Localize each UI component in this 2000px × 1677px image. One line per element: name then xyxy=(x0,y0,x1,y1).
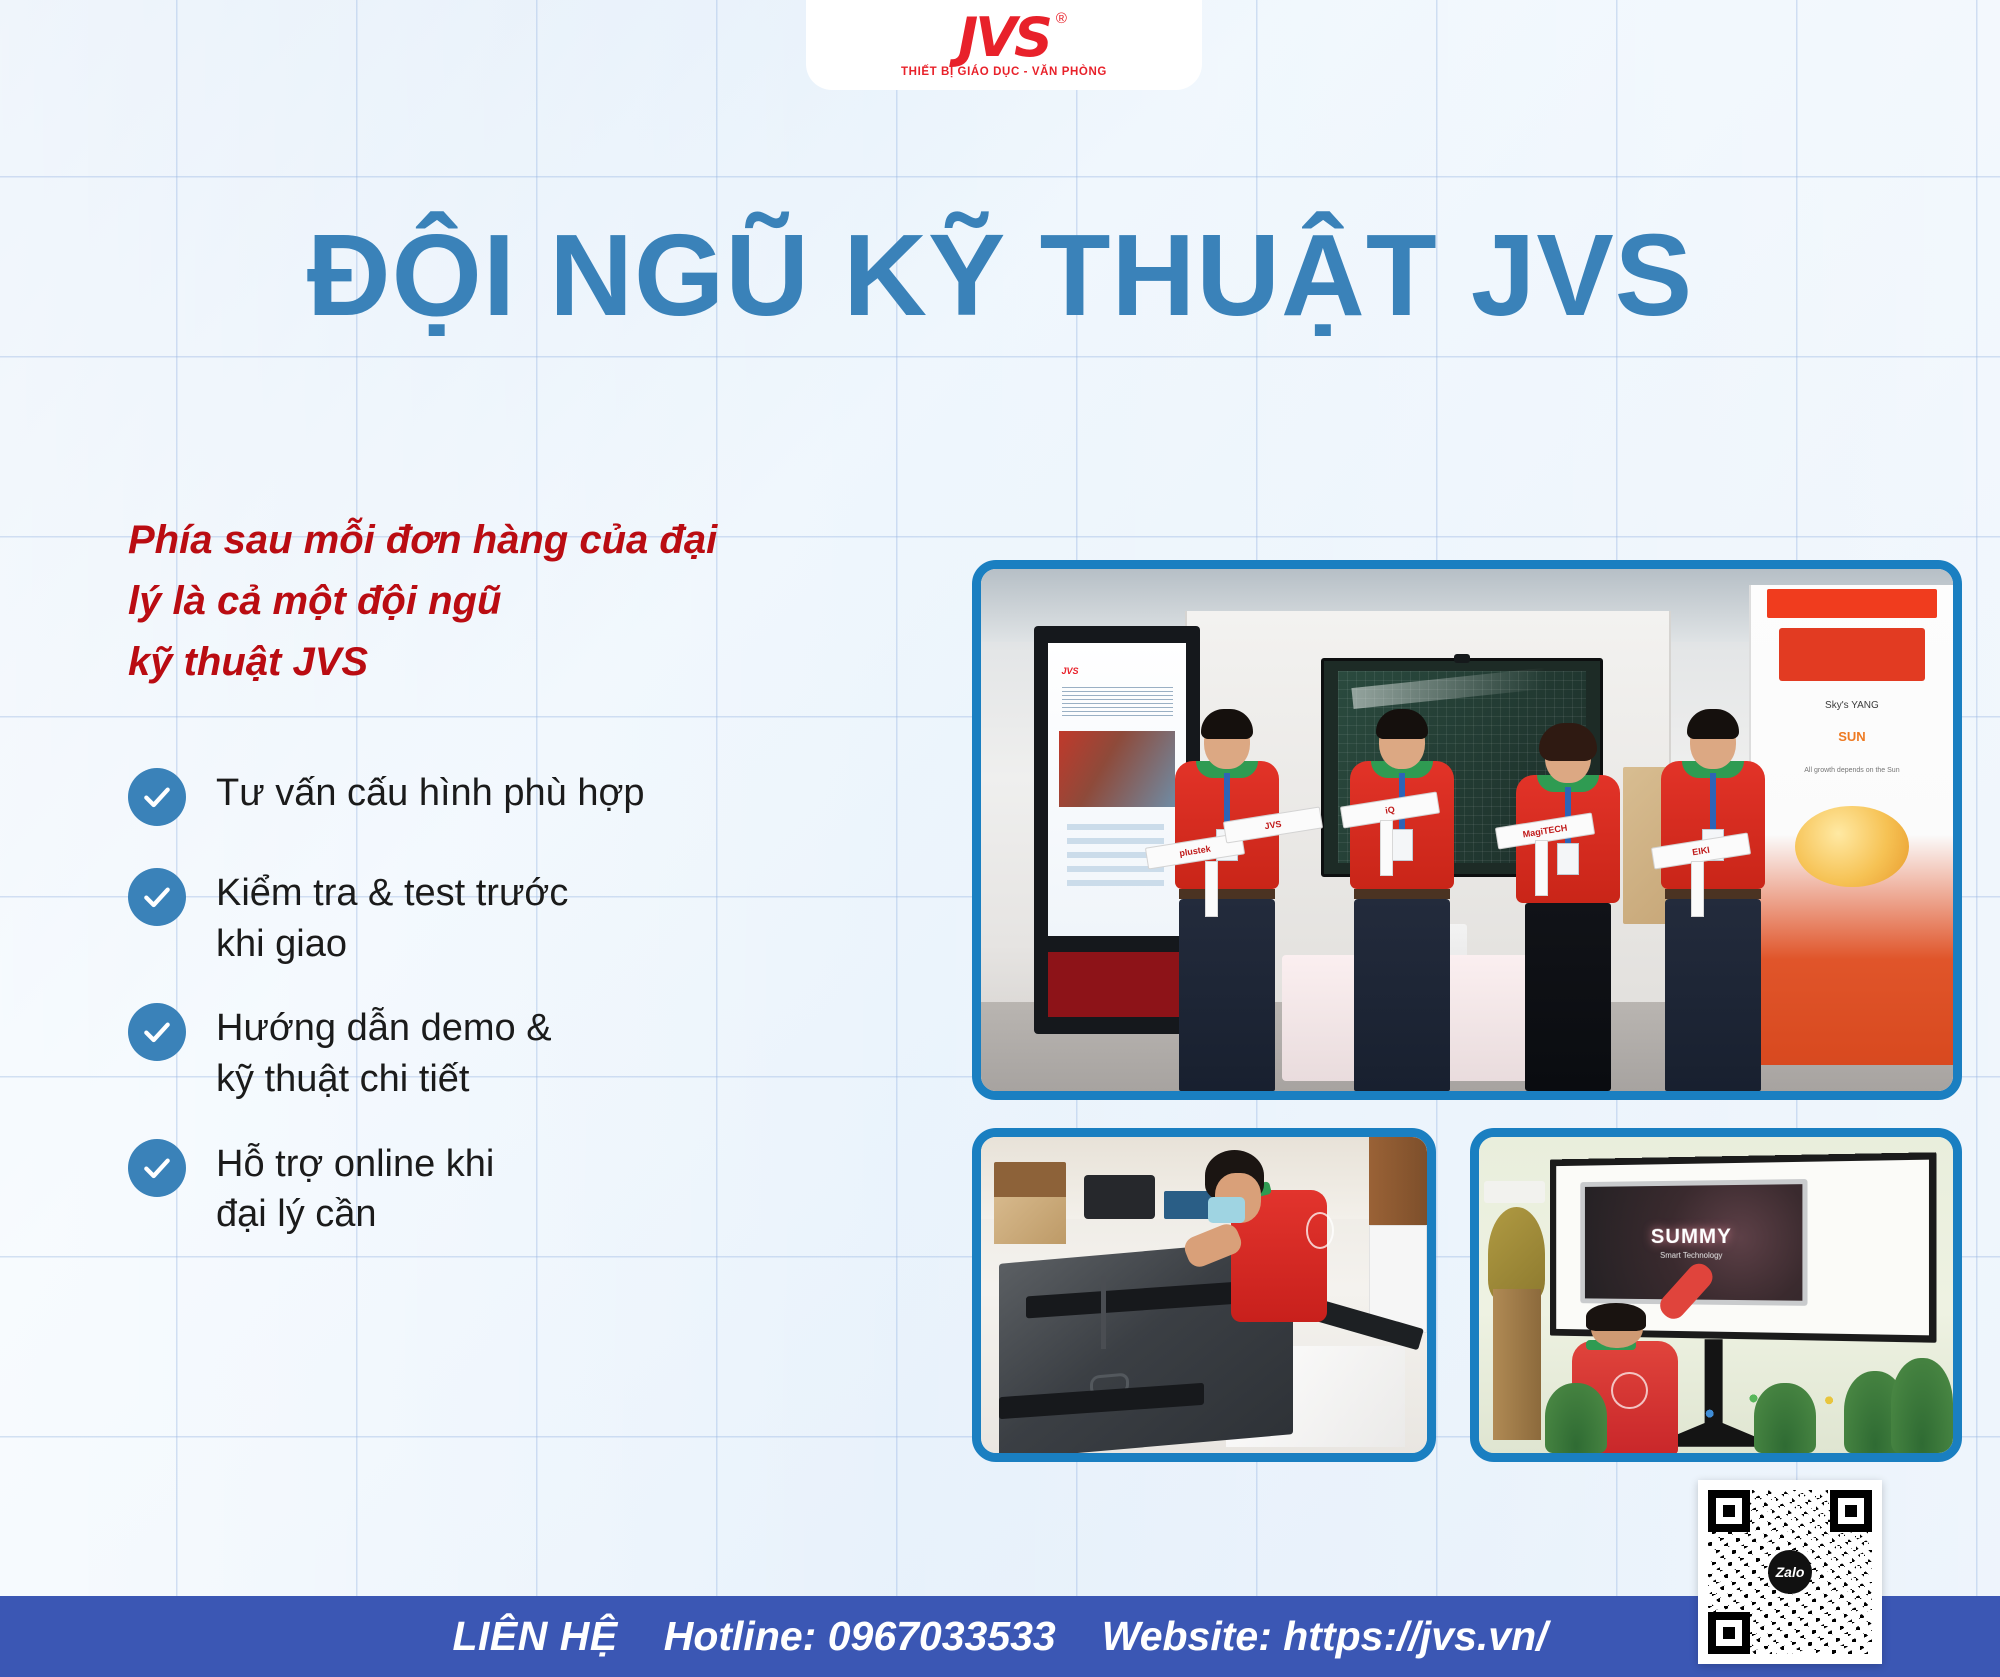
list-item-text: Tư vấn cấu hình phù hợp xyxy=(216,764,645,819)
jvs-logo-text: JVS xyxy=(958,6,1050,69)
qr-finder-top-right xyxy=(1830,1490,1872,1532)
list-item-text: Hỗ trợ online khi đại lý cần xyxy=(216,1135,494,1240)
staff-head xyxy=(1379,715,1425,769)
banner-line-1: Sky's YANG xyxy=(1767,700,1937,711)
kiosk-footer-band xyxy=(1048,952,1187,1017)
brand-sign-handle xyxy=(1535,840,1548,896)
photo-demo: SUMMY Smart Technology xyxy=(1470,1128,1962,1462)
poster-root: JVS ® THIẾT BỊ GIÁO DỤC - VĂN PHÒNG ĐỘI … xyxy=(0,0,2000,1677)
staff-member xyxy=(1661,715,1765,1091)
list-item-text: Kiểm tra & test trước khi giao xyxy=(216,864,568,969)
staff-polo-shirt xyxy=(1350,761,1454,889)
staff-lanyard xyxy=(1710,773,1716,831)
list-item: Kiểm tra & test trước khi giao xyxy=(128,864,918,969)
staff-member xyxy=(1516,729,1620,1091)
summy-brand-text: SUMMY xyxy=(1651,1225,1732,1249)
lead-paragraph: Phía sau mỗi đơn hàng của đại lý là cả m… xyxy=(128,510,918,692)
banner-top-strip xyxy=(1767,589,1937,618)
check-circle-icon xyxy=(128,1139,186,1197)
photo-demo-scene: SUMMY Smart Technology xyxy=(1479,1137,1953,1453)
staff-head xyxy=(1545,729,1591,783)
statue-pedestal xyxy=(1493,1289,1540,1441)
staff-member xyxy=(1350,715,1454,1091)
check-circle-icon xyxy=(128,768,186,826)
brand-sign-handle xyxy=(1691,861,1704,917)
screwdriver-icon xyxy=(1101,1276,1106,1349)
list-item-line-2: khi giao xyxy=(216,919,568,970)
staff-head xyxy=(1204,715,1250,769)
zalo-qr-code[interactable]: Zalo xyxy=(1698,1480,1882,1664)
staff-hair xyxy=(1539,723,1597,761)
banner-badge xyxy=(1779,628,1925,681)
photo-team-booth-scene: JVS Sky's YANG SUN All growth depends on… xyxy=(981,569,1953,1091)
staff-belt xyxy=(1354,889,1450,899)
list-item-line-2: kỹ thuật chi tiết xyxy=(216,1054,552,1105)
sun-graphic-icon xyxy=(1795,806,1908,888)
jvs-logo-plate: JVS ® THIẾT BỊ GIÁO DỤC - VĂN PHÒNG xyxy=(806,0,1202,90)
kiosk-jvs-logo: JVS xyxy=(1062,666,1079,676)
zalo-logo-icon: Zalo xyxy=(1768,1550,1812,1594)
potted-plant xyxy=(1754,1383,1816,1453)
staff-skirt xyxy=(1525,903,1611,1091)
photo-assembly xyxy=(972,1128,1436,1462)
check-circle-icon xyxy=(128,868,186,926)
staff-trousers xyxy=(1179,899,1275,1091)
staff-polo-shirt xyxy=(1661,761,1765,889)
contact-label: LIÊN HỆ xyxy=(452,1613,617,1660)
staff-id-badge xyxy=(1391,829,1413,861)
list-item: Hỗ trợ online khi đại lý cần xyxy=(128,1135,918,1240)
lead-line-3: kỹ thuật JVS xyxy=(128,632,918,693)
potted-plant xyxy=(1891,1358,1953,1453)
page-title: ĐỘI NGŨ KỸ THUẬT JVS xyxy=(0,208,2000,342)
list-item-text: Hướng dẫn demo & kỹ thuật chi tiết xyxy=(216,999,552,1104)
exhibitor-banner: Sky's YANG SUN All growth depends on the… xyxy=(1749,585,1953,1065)
photo-team-booth: JVS Sky's YANG SUN All growth depends on… xyxy=(972,560,1962,1100)
banner-line-2: SUN xyxy=(1767,729,1937,744)
check-circle-icon xyxy=(128,1003,186,1061)
kiosk-screen: JVS xyxy=(1048,643,1187,936)
technician-logo-badge xyxy=(1611,1372,1648,1410)
jvs-logo: JVS ® xyxy=(958,13,1050,63)
qr-finder-bottom-left xyxy=(1708,1612,1750,1654)
left-content-column: Phía sau mỗi đơn hàng của đại lý là cả m… xyxy=(128,510,918,1270)
lead-line-2: lý là cả một đội ngũ xyxy=(128,571,918,632)
technician-hair xyxy=(1586,1303,1645,1331)
technician-logo-badge xyxy=(1306,1212,1334,1249)
staff-id-badge xyxy=(1557,843,1579,875)
list-item-line-1: Kiểm tra & test trước xyxy=(216,868,568,919)
contact-website[interactable]: Website: https://jvs.vn/ xyxy=(1102,1613,1548,1660)
lead-line-1: Phía sau mỗi đơn hàng của đại xyxy=(128,510,918,571)
photo-assembly-scene xyxy=(981,1137,1427,1453)
brand-sign-handle xyxy=(1205,861,1218,917)
staff-belt xyxy=(1179,889,1275,899)
staff-belt xyxy=(1665,889,1761,899)
webcam-icon xyxy=(1454,654,1471,663)
staff-trousers xyxy=(1354,899,1450,1091)
cardboard-box xyxy=(994,1197,1065,1244)
registered-trademark-icon: ® xyxy=(1056,11,1067,26)
staff-head xyxy=(1690,715,1736,769)
list-item-line-1: Tư vấn cấu hình phù hợp xyxy=(216,768,645,819)
air-conditioner xyxy=(1484,1181,1546,1203)
qr-finder-top-left xyxy=(1708,1490,1750,1532)
list-item: Tư vấn cấu hình phù hợp xyxy=(128,764,918,826)
contact-hotline[interactable]: Hotline: 0967033533 xyxy=(664,1613,1056,1660)
brand-sign-handle xyxy=(1380,820,1393,876)
bust-statue xyxy=(1488,1207,1545,1302)
staff-trousers xyxy=(1665,899,1761,1091)
qr-code-canvas: Zalo xyxy=(1708,1490,1872,1654)
tool-bag xyxy=(1084,1175,1155,1219)
face-mask-icon xyxy=(1208,1197,1244,1223)
technician xyxy=(1195,1150,1360,1333)
potted-plant xyxy=(1545,1383,1607,1453)
list-item-line-1: Hướng dẫn demo & xyxy=(216,1003,552,1054)
list-item-line-1: Hỗ trợ online khi xyxy=(216,1139,494,1190)
kiosk-photo-block xyxy=(1059,731,1176,807)
staff-member xyxy=(1175,715,1279,1091)
list-item: Hướng dẫn demo & kỹ thuật chi tiết xyxy=(128,999,918,1104)
kiosk-text-lines xyxy=(1062,687,1173,716)
list-item-line-2: đại lý cần xyxy=(216,1189,494,1240)
banner-line-3: All growth depends on the Sun xyxy=(1767,767,1937,774)
summy-tagline-text: Smart Technology xyxy=(1660,1251,1722,1260)
